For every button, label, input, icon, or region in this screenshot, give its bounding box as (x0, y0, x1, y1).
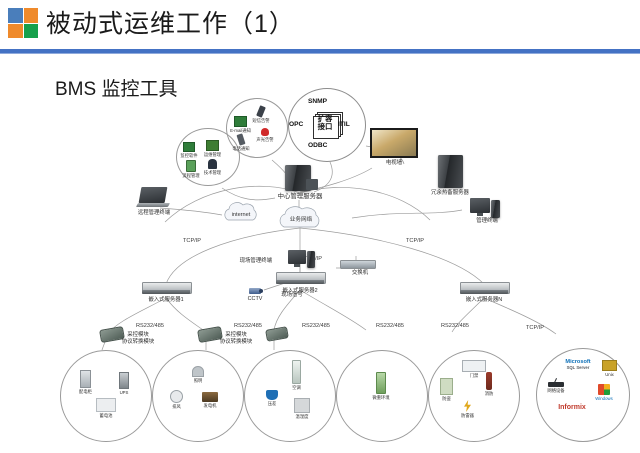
distribution-cabinet-icon: 配电柜 (80, 370, 91, 388)
link-tcpip-bottom-label: TCP/IP (526, 325, 544, 331)
micro-environment-icon: 微重环境 (376, 372, 386, 394)
page-title: 被动式运维工作（1） (46, 4, 295, 40)
converter-module-3 (266, 328, 288, 340)
remote-management-terminal-label: 远程管理终端 (138, 210, 170, 217)
protocol-snmp-label: SNMP (308, 98, 327, 105)
business-network-cloud-label: 业务网络 (290, 215, 312, 223)
generator-icon: 发电机 (202, 392, 218, 402)
link-tcpip-right-label: TCP/IP (406, 238, 424, 244)
network-device-icon: 网络设备 (548, 382, 564, 387)
video-wall (370, 128, 418, 158)
power-group-outline (60, 350, 152, 442)
technical-management-icon: 技术管理 (208, 159, 217, 169)
field-signal-label: 现场信号 (281, 292, 303, 299)
converter-module-1 (100, 328, 124, 341)
link-rs232-2-label: RS232/485 (234, 323, 262, 329)
lightning-protection-icon: 防雷器 (464, 400, 471, 412)
link-rs232-5-label: RS232/485 (441, 323, 469, 329)
converter-module-2 (198, 328, 222, 341)
embedded-server-n-label: 嵌入式服务器N (466, 297, 502, 304)
access-control-icon: 门禁 (462, 360, 486, 372)
field-management-terminal (288, 250, 306, 264)
phone-notification-icon: 电话通知 (238, 134, 244, 145)
link-rs232-3-label: RS232/485 (302, 323, 330, 329)
central-management-server (285, 165, 311, 191)
architecture-diagram: 扩容 接口 SNMP OPC ITIL ODBC 监控软件 运维管理 流程管理 … (0, 60, 640, 453)
brand-logo-icon (8, 8, 38, 38)
lighting-icon: 照明 (192, 366, 204, 377)
converter-module-1-label: 采控模块 协议转换模块 (122, 332, 154, 346)
monitoring-software-icon: 监控软件 (183, 142, 195, 152)
internet-cloud-label: internet (232, 212, 251, 218)
sms-alarm-icon: 短信告警 (258, 106, 264, 117)
video-wall-label: 电视墙 (386, 160, 402, 167)
anti-theft-icon: 防盗 (440, 378, 453, 395)
sql-server-label: SQL Server (567, 365, 590, 370)
link-rs232-4-label: RS232/485 (376, 323, 404, 329)
unix-icon: Unix (602, 360, 617, 371)
protocol-itil-label: ITIL (338, 121, 350, 128)
page-header: 被动式运维工作（1） (0, 0, 640, 52)
email-notification-icon: E-mail通知 (234, 116, 247, 127)
switch-label: 交换机 (352, 270, 368, 277)
exhaust-fan-icon: 排风 (170, 390, 183, 403)
environment-group-outline (152, 350, 244, 442)
header-rule-thin (0, 53, 640, 54)
windows-icon: Windows (598, 384, 610, 395)
embedded-server-2 (276, 272, 326, 284)
converter-module-2-label: 采控模块 协议转换模块 (220, 332, 252, 346)
battery-icon: 蓄电池 (96, 398, 116, 412)
fire-fighting-icon: 消防 (486, 372, 492, 390)
interface-center-label: 扩容 接口 (314, 115, 336, 131)
central-management-server-label: 中心管理服务器 (278, 193, 323, 201)
redundant-standby-server-label: 冗余热备服务器 (431, 190, 469, 197)
cctv-label: CCTV (248, 296, 263, 303)
operation-management-icon: 运维管理 (206, 140, 219, 151)
ups-icon: UPS (119, 372, 129, 389)
protocol-odbc-label: ODBC (308, 142, 327, 149)
management-terminal-label: 管理终端 (476, 218, 498, 225)
sound-light-alarm-icon: 声光告警 (261, 128, 269, 136)
expansion-interface-bubble: 扩容 接口 SNMP OPC ITIL ODBC (288, 88, 364, 160)
temperature-humidity-icon: 温湿度 (294, 398, 310, 413)
flow-management-icon: 流程管理 (186, 160, 196, 172)
protocol-opc-label: OPC (289, 121, 303, 128)
air-conditioner-icon: 空调 (292, 360, 301, 384)
remote-management-terminal (140, 187, 166, 203)
pressure-difference-icon: 压差 (266, 390, 278, 400)
link-rs232-1-label: RS232/485 (136, 323, 164, 329)
informix-label: Informix (558, 404, 586, 411)
redundant-standby-server (438, 155, 463, 188)
embedded-server-n (460, 282, 510, 294)
embedded-server-1-label: 嵌入式服务器1 (148, 297, 183, 304)
embedded-server-1 (142, 282, 192, 294)
link-tcpip-left-label: TCP/IP (183, 238, 201, 244)
cctv-camera-icon (249, 288, 261, 294)
hvac-group-outline (244, 350, 336, 442)
management-terminal (470, 198, 490, 213)
field-management-terminal-label: 现场管理终端 (240, 258, 272, 265)
switch (340, 260, 376, 269)
